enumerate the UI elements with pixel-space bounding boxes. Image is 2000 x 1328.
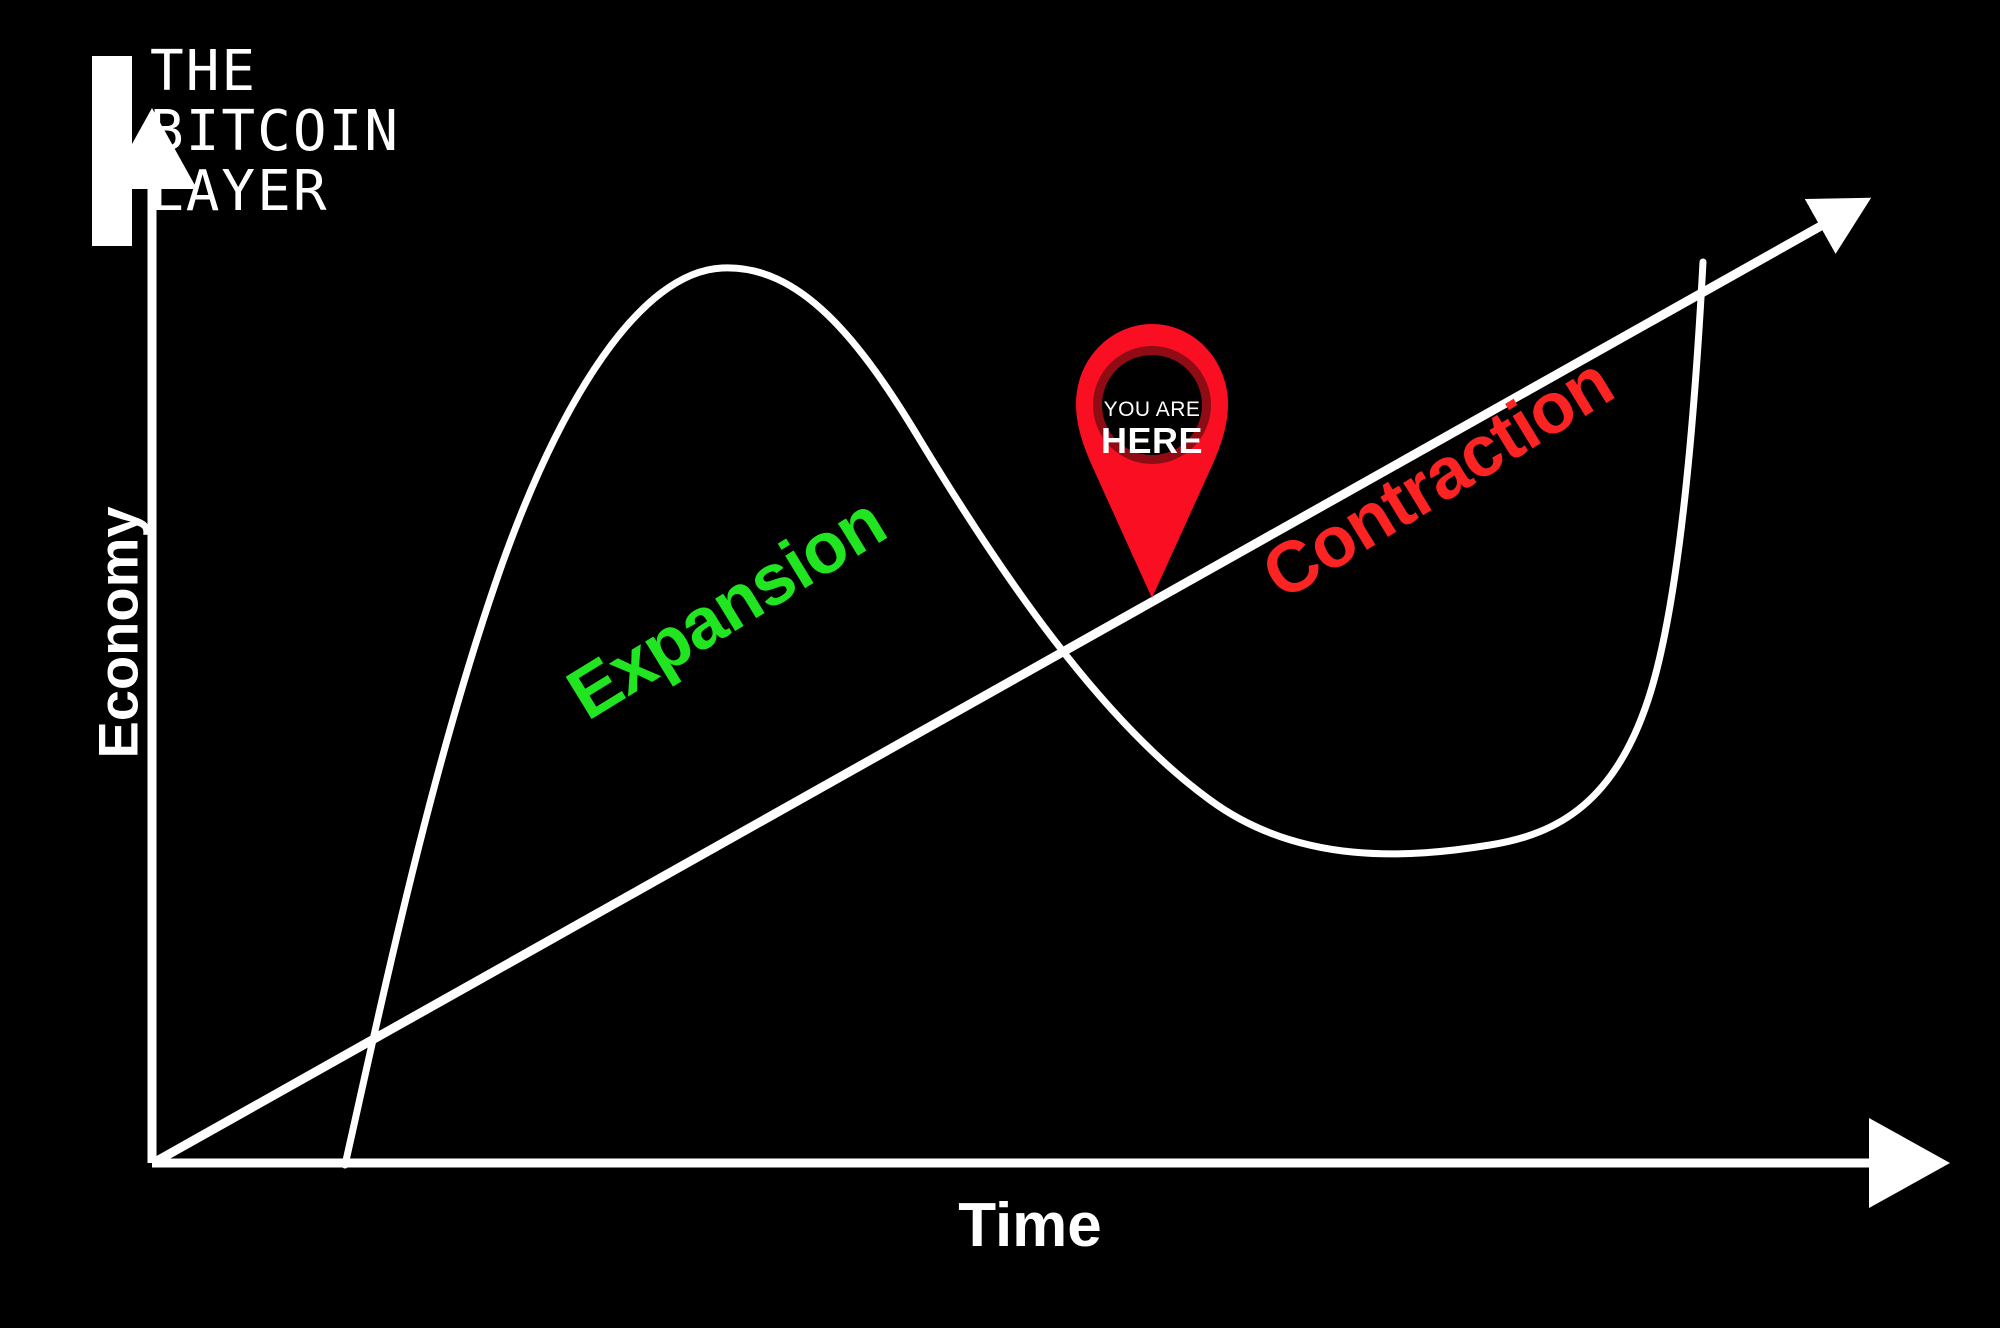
logo-line-bitcoin: BITCOIN [150, 102, 400, 162]
logo-line-layer: LAYER [150, 162, 400, 222]
business-cycle-chart: THE BITCOIN LAYER Economy Time Expansion… [0, 0, 2000, 1328]
x-axis-label: Time [790, 1190, 1270, 1261]
logo-wordmark: THE BITCOIN LAYER [150, 42, 400, 222]
brand-logo[interactable]: THE BITCOIN LAYER [92, 30, 512, 230]
logo-bar-mark [92, 56, 132, 246]
map-pin-icon [1072, 320, 1232, 600]
y-axis-label: Economy [86, 483, 151, 783]
you-are-here-pin[interactable]: YOU ARE HERE [1072, 320, 1232, 600]
logo-line-the: THE [150, 42, 400, 102]
